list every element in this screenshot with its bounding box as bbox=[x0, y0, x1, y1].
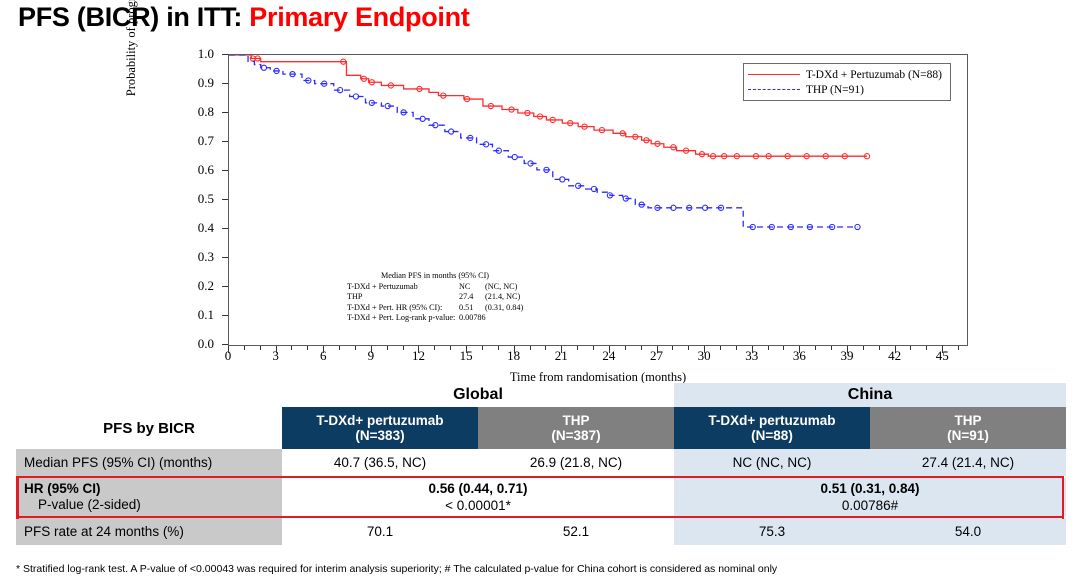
x-axis-tick-mark bbox=[895, 346, 896, 353]
x-axis-tick-mark bbox=[514, 346, 515, 353]
stats-row: T-DXd + Pertuzumab NC (NC, NC) bbox=[347, 282, 523, 293]
y-axis-tick: 0.5 bbox=[198, 191, 214, 207]
y-axis-tick: 0.4 bbox=[198, 220, 214, 236]
x-axis-tick-mark bbox=[783, 346, 784, 350]
x-axis-tick-mark bbox=[387, 346, 388, 350]
x-axis-tick-mark bbox=[688, 346, 689, 350]
stats-label: THP bbox=[347, 292, 459, 303]
column-n: (N=91) bbox=[947, 428, 989, 443]
group-spacer bbox=[16, 383, 282, 407]
legend-swatch-dashed-line-icon bbox=[748, 85, 800, 95]
table-row-hr-highlighted: HR (95% CI) P-value (2-sided) 0.56 (0.44… bbox=[16, 476, 1064, 518]
stats-row: T-DXd + Pert. HR (95% CI): 0.51 (0.31, 0… bbox=[347, 303, 523, 314]
group-header-global: Global bbox=[282, 383, 674, 407]
stats-median: 0.00786 bbox=[459, 313, 485, 324]
y-axis-tick-labels: 0.00.10.20.30.40.50.60.70.80.91.0 bbox=[160, 48, 222, 348]
column-n: (N=383) bbox=[355, 428, 404, 443]
y-axis-tick: 1.0 bbox=[198, 46, 214, 62]
x-axis-tick-mark bbox=[276, 346, 277, 353]
column-arm: T-DXd+ pertuzumab bbox=[316, 413, 443, 428]
x-axis-tick-mark bbox=[847, 346, 848, 353]
y-axis-tick-mark bbox=[222, 257, 228, 258]
y-axis-tick-mark bbox=[222, 170, 228, 171]
row-label-header: PFS by BICR bbox=[16, 407, 282, 449]
x-axis-tick-labels: 0369121518212427303336394245 bbox=[228, 348, 968, 370]
cell-median-china-thp: 27.4 (21.4, NC) bbox=[870, 449, 1066, 476]
x-axis-tick-mark bbox=[831, 346, 832, 350]
stats-ci: (0.31, 0.84) bbox=[485, 303, 523, 314]
stats-ci: (21.4, NC) bbox=[485, 292, 520, 303]
results-table: Global China PFS by BICR T-DXd+ pertuzum… bbox=[16, 383, 1064, 545]
cell-hr-global: 0.56 (0.44, 0.71) < 0.00001* bbox=[282, 478, 674, 516]
legend-swatch-solid-line-icon bbox=[748, 70, 800, 80]
km-chart: Probability of progression free survival… bbox=[130, 48, 1030, 388]
stats-ci: (NC, NC) bbox=[485, 282, 517, 293]
x-axis-tick-mark bbox=[530, 346, 531, 350]
legend-label-thp: THP (N=91) bbox=[806, 84, 864, 96]
cell-median-global-tdxd: 40.7 (36.5, NC) bbox=[282, 449, 478, 476]
legend-item-tdxd: T-DXd + Pertuzumab (N=88) bbox=[748, 67, 942, 82]
x-axis-tick-mark bbox=[228, 346, 229, 353]
stats-label: T-DXd + Pert. HR (95% CI): bbox=[347, 303, 459, 314]
x-axis-tick-mark bbox=[466, 346, 467, 353]
x-axis-tick-mark bbox=[942, 346, 943, 353]
chart-statistics-box: Median PFS in months (95% CI) T-DXd + Pe… bbox=[347, 271, 523, 324]
row-label-median-pfs: Median PFS (95% CI) (months) bbox=[16, 449, 282, 476]
x-axis-tick-mark bbox=[498, 346, 499, 350]
y-axis-tick-mark bbox=[222, 344, 228, 345]
x-axis-tick-mark bbox=[609, 346, 610, 353]
y-axis-tick-mark bbox=[222, 286, 228, 287]
x-axis-tick-mark bbox=[672, 346, 673, 350]
y-axis-title: Probability of progression free survival bbox=[124, 0, 139, 108]
cell-rate-china-thp: 54.0 bbox=[870, 518, 1066, 545]
y-axis-tick: 0.2 bbox=[198, 278, 214, 294]
group-header-china: China bbox=[674, 383, 1066, 407]
column-arm: T-DXd+ pertuzumab bbox=[708, 413, 835, 428]
x-axis-tick-mark bbox=[657, 346, 658, 353]
column-header-china-thp: THP (N=91) bbox=[870, 407, 1066, 449]
row-label-pfs-rate: PFS rate at 24 months (%) bbox=[16, 518, 282, 545]
x-axis-tick-mark bbox=[482, 346, 483, 350]
legend-item-thp: THP (N=91) bbox=[748, 82, 942, 97]
x-axis-tick-mark bbox=[260, 346, 261, 350]
x-axis-tick-mark bbox=[561, 346, 562, 353]
cell-rate-china-tdxd: 75.3 bbox=[674, 518, 870, 545]
x-axis-tick-mark bbox=[545, 346, 546, 350]
y-axis-tick-mark bbox=[222, 54, 228, 55]
y-axis-tick-mark bbox=[222, 141, 228, 142]
column-header-china-tdxd: T-DXd+ pertuzumab (N=88) bbox=[674, 407, 870, 449]
stats-median: NC bbox=[459, 282, 485, 293]
cell-rate-global-thp: 52.1 bbox=[478, 518, 674, 545]
column-n: (N=88) bbox=[751, 428, 793, 443]
x-axis-tick-mark bbox=[403, 346, 404, 350]
cell-hr-china: 0.51 (0.31, 0.84) 0.00786# bbox=[674, 478, 1066, 516]
table-row: PFS rate at 24 months (%) 70.1 52.1 75.3… bbox=[16, 518, 1064, 545]
y-axis-tick: 0.7 bbox=[198, 133, 214, 149]
table-group-header-row: Global China bbox=[16, 383, 1064, 407]
stats-label: T-DXd + Pert. Log-rank p-value: bbox=[347, 313, 459, 324]
page-title: PFS (BICR) in ITT: Primary Endpoint bbox=[18, 2, 470, 33]
censor-mark bbox=[855, 224, 860, 229]
stats-row: T-DXd + Pert. Log-rank p-value: 0.00786 bbox=[347, 313, 523, 324]
y-axis-tick-mark bbox=[222, 315, 228, 316]
x-axis-tick-mark bbox=[593, 346, 594, 350]
highlight-border-left bbox=[16, 476, 19, 519]
x-axis-tick-mark bbox=[958, 346, 959, 350]
y-axis-tick-mark bbox=[222, 228, 228, 229]
stats-header: Median PFS in months (95% CI) bbox=[347, 271, 523, 282]
cell-hr-china-value: 0.51 (0.31, 0.84) bbox=[820, 480, 919, 497]
x-axis-tick-mark bbox=[704, 346, 705, 353]
cell-hr-global-value: 0.56 (0.44, 0.71) bbox=[428, 480, 527, 497]
cell-median-global-thp: 26.9 (21.8, NC) bbox=[478, 449, 674, 476]
column-arm: THP bbox=[563, 413, 590, 428]
x-axis-tick-mark bbox=[625, 346, 626, 350]
x-axis-tick-mark bbox=[910, 346, 911, 350]
x-axis-tick-mark bbox=[244, 346, 245, 350]
x-axis-tick-mark bbox=[450, 346, 451, 350]
cell-pvalue-china: 0.00786# bbox=[842, 497, 898, 514]
x-axis-tick-mark bbox=[323, 346, 324, 353]
row-label-header-text: PFS by BICR bbox=[103, 421, 195, 436]
legend-label-tdxd: T-DXd + Pertuzumab (N=88) bbox=[806, 69, 942, 81]
x-axis-tick-mark bbox=[926, 346, 927, 350]
x-axis-tick-mark bbox=[752, 346, 753, 353]
stats-label: T-DXd + Pertuzumab bbox=[347, 282, 459, 293]
x-axis-tick-mark bbox=[641, 346, 642, 350]
row-label-hr-main: HR (95% CI) bbox=[24, 481, 101, 497]
plot-area: T-DXd + Pertuzumab (N=88) THP (N=91) Med… bbox=[228, 54, 968, 346]
y-axis-tick: 0.1 bbox=[198, 307, 214, 323]
column-n: (N=387) bbox=[551, 428, 600, 443]
y-axis-tick: 0.3 bbox=[198, 249, 214, 265]
y-axis-tick: 0.6 bbox=[198, 162, 214, 178]
x-axis-tick-mark bbox=[768, 346, 769, 350]
y-axis-tick-mark bbox=[222, 199, 228, 200]
table-row: Median PFS (95% CI) (months) 40.7 (36.5,… bbox=[16, 449, 1064, 476]
cell-median-china-tdxd: NC (NC, NC) bbox=[674, 449, 870, 476]
stats-median: 27.4 bbox=[459, 292, 485, 303]
x-axis-tick-mark bbox=[339, 346, 340, 350]
x-axis-tick-mark bbox=[863, 346, 864, 350]
footnote: * Stratified log-rank test. A P-value of… bbox=[16, 563, 1076, 575]
x-axis-tick-mark bbox=[307, 346, 308, 350]
x-axis-tick-mark bbox=[815, 346, 816, 350]
column-header-global-thp: THP (N=387) bbox=[478, 407, 674, 449]
table-column-header-row: PFS by BICR T-DXd+ pertuzumab (N=383) TH… bbox=[16, 407, 1064, 449]
x-axis-tick-mark bbox=[720, 346, 721, 350]
row-label-hr: HR (95% CI) P-value (2-sided) bbox=[16, 478, 282, 516]
x-axis-tick-mark bbox=[879, 346, 880, 350]
chart-legend: T-DXd + Pertuzumab (N=88) THP (N=91) bbox=[743, 63, 951, 101]
highlight-border-right bbox=[1062, 476, 1065, 519]
cell-pvalue-global: < 0.00001* bbox=[445, 497, 511, 514]
y-axis-tick-mark bbox=[222, 112, 228, 113]
cell-rate-global-tdxd: 70.1 bbox=[282, 518, 478, 545]
x-axis-tick-mark bbox=[371, 346, 372, 353]
page-title-accent: Primary Endpoint bbox=[249, 2, 469, 32]
x-axis-tick-mark bbox=[418, 346, 419, 353]
y-axis-tick: 0.9 bbox=[198, 75, 214, 91]
x-axis-tick-mark bbox=[434, 346, 435, 350]
x-axis-tick-mark bbox=[577, 346, 578, 350]
stats-row: THP 27.4 (21.4, NC) bbox=[347, 292, 523, 303]
row-label-hr-sub: P-value (2-sided) bbox=[24, 497, 141, 513]
y-axis-tick-mark bbox=[222, 83, 228, 84]
y-axis-tick: 0.0 bbox=[198, 336, 214, 352]
x-axis-tick-mark bbox=[355, 346, 356, 350]
x-axis-tick-mark bbox=[736, 346, 737, 350]
x-axis-tick-mark bbox=[291, 346, 292, 350]
x-axis-tick-mark bbox=[799, 346, 800, 353]
column-header-global-tdxd: T-DXd+ pertuzumab (N=383) bbox=[282, 407, 478, 449]
column-arm: THP bbox=[955, 413, 982, 428]
stats-median: 0.51 bbox=[459, 303, 485, 314]
y-axis-tick: 0.8 bbox=[198, 104, 214, 120]
